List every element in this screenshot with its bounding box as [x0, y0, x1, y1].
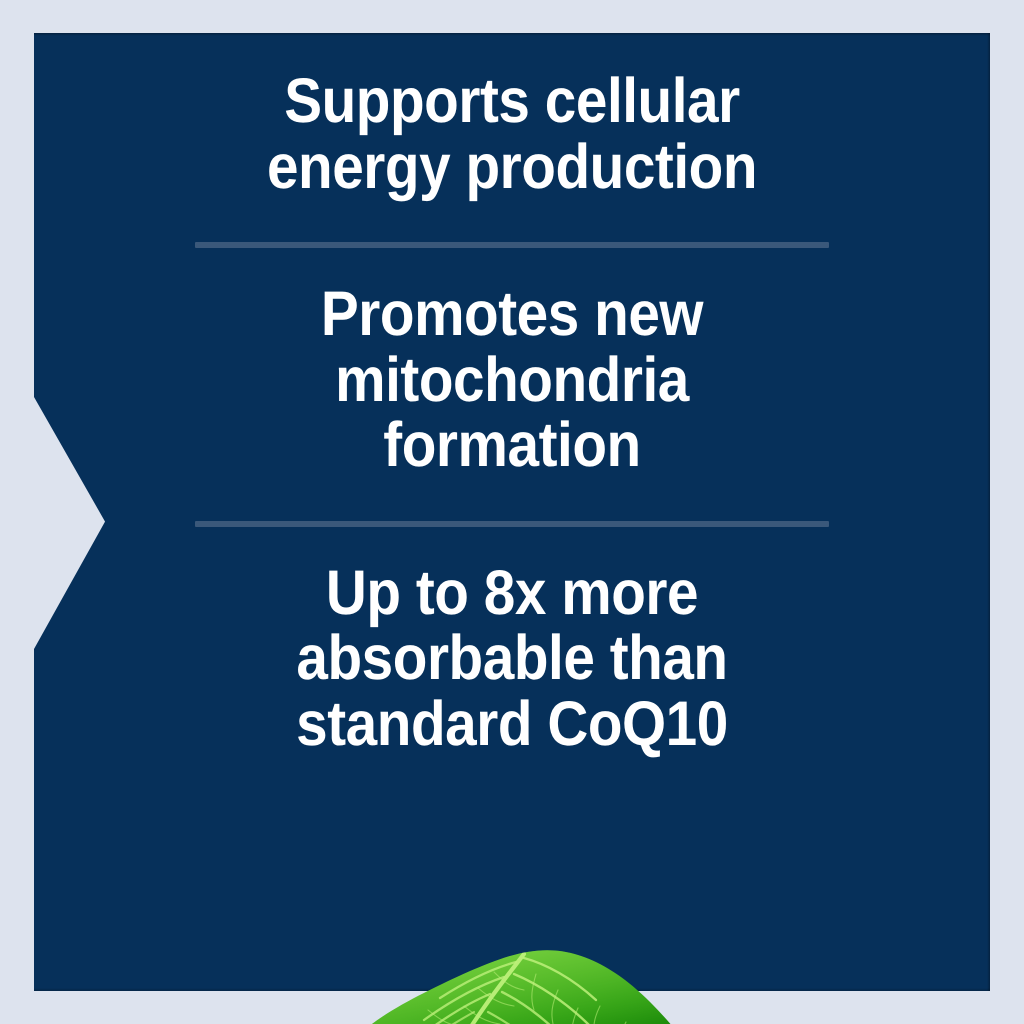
benefit-item-3: Up to 8x more absorbable than standard C… — [202, 561, 823, 758]
benefits-list: Supports cellular energy production Prom… — [34, 33, 990, 991]
benefits-callout-card: Supports cellular energy production Prom… — [0, 0, 1024, 1024]
benefit-divider-2 — [195, 521, 829, 527]
benefit-divider-1 — [195, 242, 829, 248]
benefit-item-1: Supports cellular energy production — [197, 69, 827, 200]
benefit-item-2: Promotes new mitochondria formation — [233, 282, 791, 479]
